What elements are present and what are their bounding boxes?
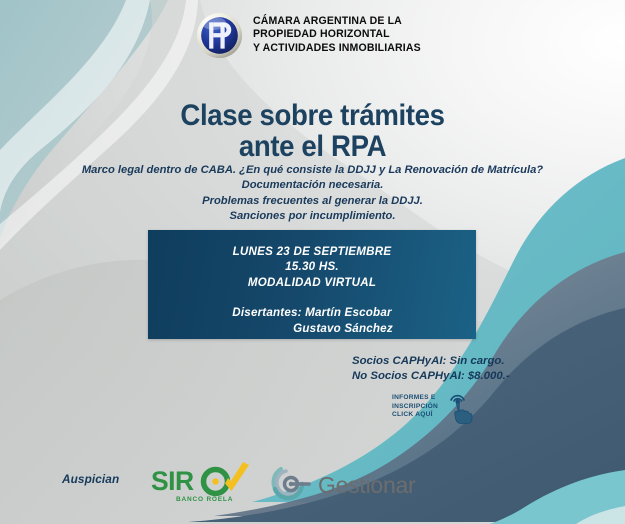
flyer-canvas: CÁMARA ARGENTINA DE LA PROPIEDAD HORIZON… <box>0 0 625 524</box>
cta-text: INFORMES E INSCRIPCIÓN CLICK AQUÍ <box>392 394 438 419</box>
registration-cta[interactable]: INFORMES E INSCRIPCIÓN CLICK AQUÍ <box>392 390 474 424</box>
event-speakers: Disertantes: Martín Escobar Gustavo Sánc… <box>148 290 476 336</box>
event-details-panel: LUNES 23 DE SEPTIEMBRE 15.30 HS. MODALID… <box>148 230 476 339</box>
event-time: 15.30 HS. <box>148 259 476 274</box>
org-line-3: Y ACTIVIDADES INMOBILIARIAS <box>253 42 421 56</box>
description-line-1: Marco legal dentro de CABA. ¿En qué cons… <box>0 163 625 178</box>
description-line-4: Sanciones por incumplimiento. <box>0 209 625 224</box>
svg-text:SIR: SIR <box>151 466 194 496</box>
fee-members: Socios CAPHyAI: Sin cargo. <box>352 354 510 369</box>
title-line-1: Clase sobre trámites <box>180 99 444 132</box>
organization-header: CÁMARA ARGENTINA DE LA PROPIEDAD HORIZON… <box>0 0 625 70</box>
fee-non-members: No Socios CAPHyAI: $8.000.- <box>352 369 510 384</box>
organization-name: CÁMARA ARGENTINA DE LA PROPIEDAD HORIZON… <box>253 15 421 56</box>
event-when: LUNES 23 DE SEPTIEMBRE 15.30 HS. MODALID… <box>148 230 476 290</box>
org-line-2: PROPIEDAD HORIZONTAL <box>253 28 421 42</box>
description-line-2: Documentación necesaria. <box>0 178 625 193</box>
page-title: Clase sobre trámites ante el RPA <box>25 100 600 162</box>
cta-line-2: INSCRIPCIÓN <box>392 403 438 411</box>
description-line-3: Problemas frecuentes al generar la DDJJ. <box>0 194 625 209</box>
siro-logo-icon: SIR BANCO ROELA <box>150 461 254 505</box>
cta-line-1: INFORMES E <box>392 394 438 402</box>
org-line-1: CÁMARA ARGENTINA DE LA <box>253 15 421 29</box>
speaker-1: Disertantes: Martín Escobar <box>232 306 391 319</box>
gestionar-wordmark: Gestionar <box>318 472 416 498</box>
siro-subtitle: BANCO ROELA <box>176 496 233 503</box>
event-modality: MODALIDAD VIRTUAL <box>148 275 476 290</box>
description-block: Marco legal dentro de CABA. ¿En qué cons… <box>0 163 625 224</box>
title-line-2: ante el RPA <box>25 131 600 162</box>
cta-line-3: CLICK AQUÍ <box>392 411 438 419</box>
click-hand-icon[interactable] <box>444 390 474 424</box>
event-date: LUNES 23 DE SEPTIEMBRE <box>148 244 476 259</box>
fees-block: Socios CAPHyAI: Sin cargo. No Socios CAP… <box>352 354 510 383</box>
caphyai-sphere-logo-icon <box>196 12 243 59</box>
gestionar-logo-icon: Gestionar <box>266 462 434 506</box>
sponsors-label: Auspician <box>62 472 119 486</box>
speaker-2: Gustavo Sánchez <box>148 321 476 336</box>
